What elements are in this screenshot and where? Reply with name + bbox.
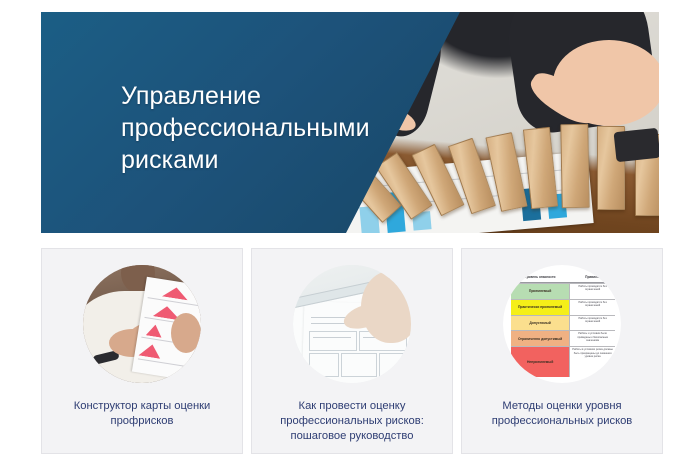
risk-level-label: Приемлемый bbox=[511, 284, 569, 299]
card-grid: Конструктор карты оценки профрисков bbox=[41, 248, 665, 454]
desk-object bbox=[614, 128, 659, 162]
card-caption[interactable]: Как провести оценку профессиональных рис… bbox=[252, 399, 452, 444]
hand-over-assessment-forms-photo[interactable] bbox=[293, 265, 411, 383]
risk-matrix-header: Уровень опасности Правило bbox=[511, 271, 615, 283]
risk-matrix-header-rule: Правило bbox=[569, 271, 615, 283]
card-assessment-methods[interactable]: Уровень опасности Правило Приемлемый Раб… bbox=[461, 248, 663, 454]
card-step-by-step-guide[interactable]: Как провести оценку профессиональных рис… bbox=[251, 248, 453, 454]
risk-rule-text: Работы проводятся без ограничений bbox=[569, 300, 615, 315]
risk-rule-text: Работы в условиях риска должны быть прек… bbox=[569, 347, 615, 377]
risk-level-label: Допустимый bbox=[511, 316, 569, 331]
page-root: Управление профессиональными рисками bbox=[0, 0, 700, 469]
risk-matrix-row: Ограниченно допустимый Работы и условия … bbox=[511, 330, 615, 346]
risk-level-label: Ограниченно допустимый bbox=[511, 331, 569, 346]
card-caption[interactable]: Методы оценки уровня профессиональных ри… bbox=[462, 399, 662, 429]
risk-matrix-row: Неприемлемый Работы в условиях риска дол… bbox=[511, 346, 615, 377]
risk-matrix-table: Уровень опасности Правило Приемлемый Раб… bbox=[511, 271, 615, 377]
risk-level-matrix-table-photo[interactable]: Уровень опасности Правило Приемлемый Раб… bbox=[503, 265, 621, 383]
risk-matrix-header-level: Уровень опасности bbox=[511, 271, 569, 283]
risk-matrix-row: Приемлемый Работы проводятся без огранич… bbox=[511, 283, 615, 299]
risk-rule-text: Работы и условия были приведены к безопа… bbox=[569, 331, 615, 346]
risk-rule-text: Работы проводятся без ограничений bbox=[569, 316, 615, 331]
card-risk-map-builder[interactable]: Конструктор карты оценки профрисков bbox=[41, 248, 243, 454]
hero-title: Управление профессиональными рисками bbox=[121, 80, 411, 176]
risk-level-label: Практически приемлемый bbox=[511, 300, 569, 315]
risk-level-label: Неприемлемый bbox=[511, 347, 569, 377]
person-holding-risk-charts-photo[interactable] bbox=[83, 265, 201, 383]
risk-matrix-row: Практически приемлемый Работы проводятся… bbox=[511, 299, 615, 315]
hero-banner[interactable]: Управление профессиональными рисками bbox=[41, 12, 659, 233]
domino-block bbox=[560, 124, 589, 208]
risk-matrix-row: Допустимый Работы проводятся без огранич… bbox=[511, 315, 615, 331]
card-caption[interactable]: Конструктор карты оценки профрисков bbox=[42, 399, 242, 429]
risk-rule-text: Работы проводятся без ограничений bbox=[569, 284, 615, 299]
